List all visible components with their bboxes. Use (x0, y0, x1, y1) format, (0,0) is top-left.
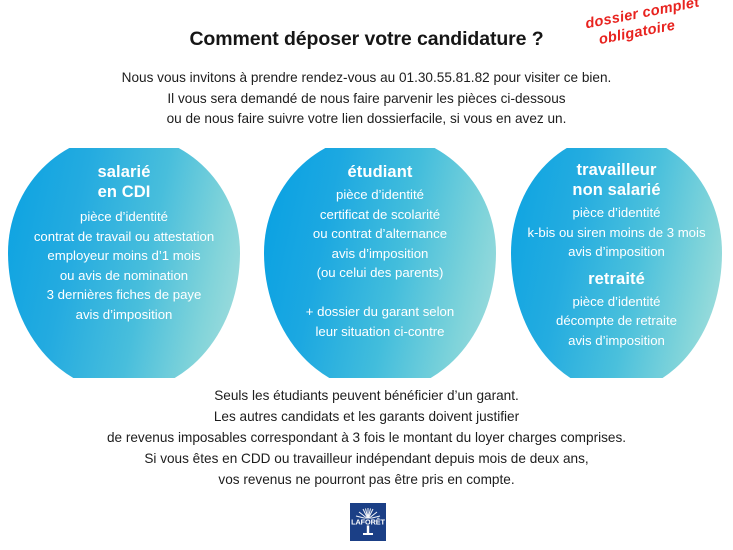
footnote-line-2: Les autres candidats et les garants doiv… (0, 406, 733, 427)
blob-item: pièce d’identité (264, 185, 496, 205)
blob-item: avis d’imposition (8, 305, 240, 325)
blob-heading-line-1b: en CDI (8, 182, 240, 202)
intro-paragraph: Nous vous invitons à prendre rendez-vous… (0, 68, 733, 130)
poster-canvas: dossier complet obligatoire Comment dépo… (0, 0, 733, 550)
intro-line-1: Nous vous invitons à prendre rendez-vous… (0, 68, 733, 89)
intro-line-3: ou de nous faire suivre votre lien dossi… (0, 109, 733, 130)
blob-heading-line-3a: travailleur (511, 160, 722, 180)
blob-item: ou avis de nomination (8, 266, 240, 286)
blob-item: avis d’imposition (511, 242, 722, 262)
blob-item: employeur moins d’1 mois (8, 246, 240, 266)
blob-spacer (264, 283, 496, 302)
blob-item-list-2: pièce d’identité certificat de scolarité… (264, 185, 496, 283)
blob-item-list-1: pièce d’identité contrat de travail ou a… (8, 207, 240, 325)
blob-item: ou contrat d’alternance (264, 224, 496, 244)
footnote-line-4: Si vous êtes en CDD ou travailleur indép… (0, 448, 733, 469)
laforet-logo: LAFORÊT (350, 503, 386, 541)
category-blob-travailleur-non-salarie: travailleur non salarié pièce d’identité… (511, 148, 722, 378)
blob-item: pièce d’identité (511, 292, 722, 312)
blob-item: avis d’imposition (264, 244, 496, 264)
footnote-paragraph: Seuls les étudiants peuvent bénéficier d… (0, 385, 733, 490)
blob-item: (ou celui des parents) (264, 263, 496, 283)
blob-item-list-3: pièce d’identité k-bis ou siren moins de… (511, 203, 722, 262)
blob-item-list-retraite: pièce d’identité décompte de retraite av… (511, 292, 722, 351)
footnote-line-5: vos revenus ne pourront pas être pris en… (0, 469, 733, 490)
blob-item: 3 dernières fiches de paye (8, 285, 240, 305)
page-title: Comment déposer votre candidature ? (0, 28, 733, 51)
blob-item: contrat de travail ou attestation (8, 227, 240, 247)
footnote-line-1: Seuls les étudiants peuvent bénéficier d… (0, 385, 733, 406)
blob-heading-retraite: retraité (511, 269, 722, 289)
blob-item: certificat de scolarité (264, 205, 496, 225)
blob-heading-line-2a: étudiant (264, 162, 496, 182)
blob-heading-line-3b: non salarié (511, 180, 722, 200)
blob-heading-line-1a: salarié (8, 162, 240, 182)
tree-icon: LAFORÊT (350, 503, 386, 541)
blob-item: pièce d’identité (8, 207, 240, 227)
blob-item: pièce d’identité (511, 203, 722, 223)
blob-extra-item: + dossier du garant selon (264, 302, 496, 322)
blob-content-3: travailleur non salarié pièce d’identité… (511, 148, 722, 351)
blob-content-1: salarié en CDI pièce d’identité contrat … (8, 148, 240, 325)
blob-item: k-bis ou siren moins de 3 mois (511, 223, 722, 243)
category-blob-etudiant: étudiant pièce d’identité certificat de … (264, 148, 496, 378)
blob-item: avis d’imposition (511, 331, 722, 351)
category-blob-group: salarié en CDI pièce d’identité contrat … (0, 148, 733, 380)
blob-item: décompte de retraite (511, 311, 722, 331)
category-blob-salarie-en-cdi: salarié en CDI pièce d’identité contrat … (8, 148, 240, 378)
footnote-line-3: de revenus imposables correspondant à 3 … (0, 427, 733, 448)
blob-extra-item: leur situation ci-contre (264, 322, 496, 342)
blob-extra-list-2: + dossier du garant selon leur situation… (264, 302, 496, 341)
svg-text:LAFORÊT: LAFORÊT (351, 517, 385, 526)
blob-content-2: étudiant pièce d’identité certificat de … (264, 148, 496, 341)
intro-line-2: Il vous sera demandé de nous faire parve… (0, 89, 733, 110)
